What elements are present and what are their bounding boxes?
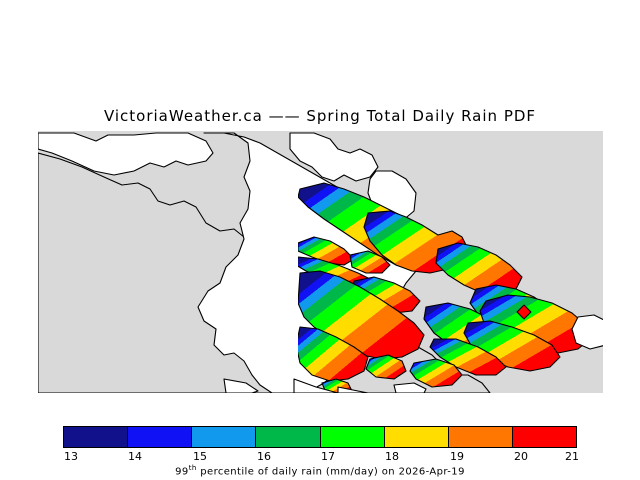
map-svg [38, 131, 603, 393]
colorbar-segment-18-19[interactable] [385, 427, 449, 447]
colorbar-tick-19: 19 [450, 450, 464, 463]
colorbar-tick-21: 21 [565, 450, 579, 463]
colorbar[interactable]: 13 14 15 16 17 18 19 20 21 99th percenti… [63, 426, 577, 478]
colorbar-tick-16: 16 [257, 450, 271, 463]
colorbar-tick-15: 15 [193, 450, 207, 463]
colorbar-segment-13-14[interactable] [64, 427, 128, 447]
caption-percentile-suffix: th [189, 464, 197, 472]
colorbar-segment-15-16[interactable] [192, 427, 256, 447]
landmass-group [38, 131, 603, 393]
colorbar-tick-14: 14 [128, 450, 142, 463]
colorbar-segment-19-20[interactable] [449, 427, 513, 447]
map-panel[interactable] [38, 131, 603, 393]
colorbar-tick-18: 18 [385, 450, 399, 463]
colorbar-tick-17: 17 [321, 450, 335, 463]
colorbar-tick-20: 20 [514, 450, 528, 463]
colorbar-segment-16-17[interactable] [256, 427, 320, 447]
colorbar-segment-20-21[interactable] [513, 427, 576, 447]
colorbar-tick-13: 13 [64, 450, 78, 463]
colorbar-segment-14-15[interactable] [128, 427, 192, 447]
caption-percentile-number: 99 [175, 466, 189, 477]
colorbar-segment-17-18[interactable] [321, 427, 385, 447]
caption-rest: percentile of daily rain (mm/day) on 202… [197, 466, 465, 477]
weather-map-page: VictoriaWeather.ca —— Spring Total Daily… [0, 0, 640, 480]
page-title: VictoriaWeather.ca —— Spring Total Daily… [0, 107, 640, 125]
colorbar-caption: 99th percentile of daily rain (mm/day) o… [63, 464, 577, 477]
colorbar-strip[interactable] [63, 426, 577, 448]
